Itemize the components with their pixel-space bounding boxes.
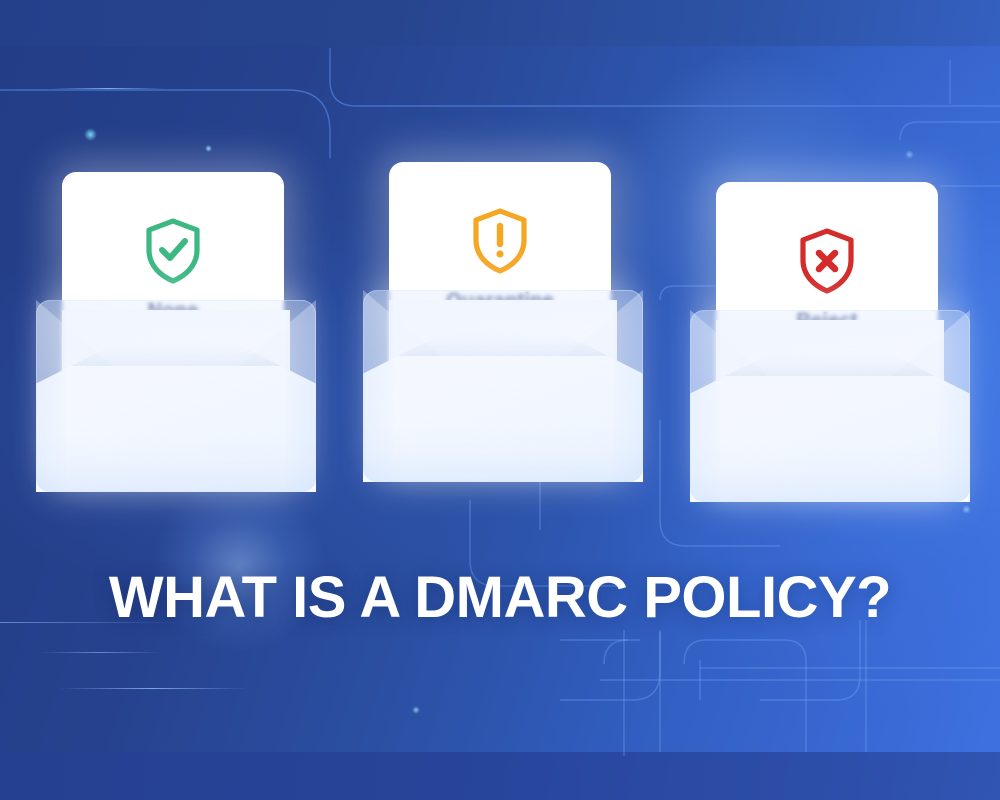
policy-card-none[interactable]: None: [36, 172, 316, 492]
envelope-front-panel: [690, 376, 970, 502]
policy-card-reject[interactable]: Reject: [690, 182, 970, 502]
envelope-quarantine: [363, 290, 643, 482]
envelope-front-panel: [363, 356, 643, 482]
policy-card-quarantine[interactable]: Quarantine: [363, 162, 643, 482]
shield-check-icon: [141, 216, 205, 286]
envelope-front-panel: [36, 366, 316, 492]
envelope-reject: [690, 310, 970, 502]
envelope-none: [36, 300, 316, 492]
shield-x-icon: [795, 226, 859, 296]
page-title: WHAT IS A DMARC POLICY?: [0, 564, 1000, 631]
poster-canvas: None: [0, 0, 1000, 800]
policy-card-row: None: [0, 0, 1000, 800]
shield-exclamation-icon: [468, 206, 532, 276]
